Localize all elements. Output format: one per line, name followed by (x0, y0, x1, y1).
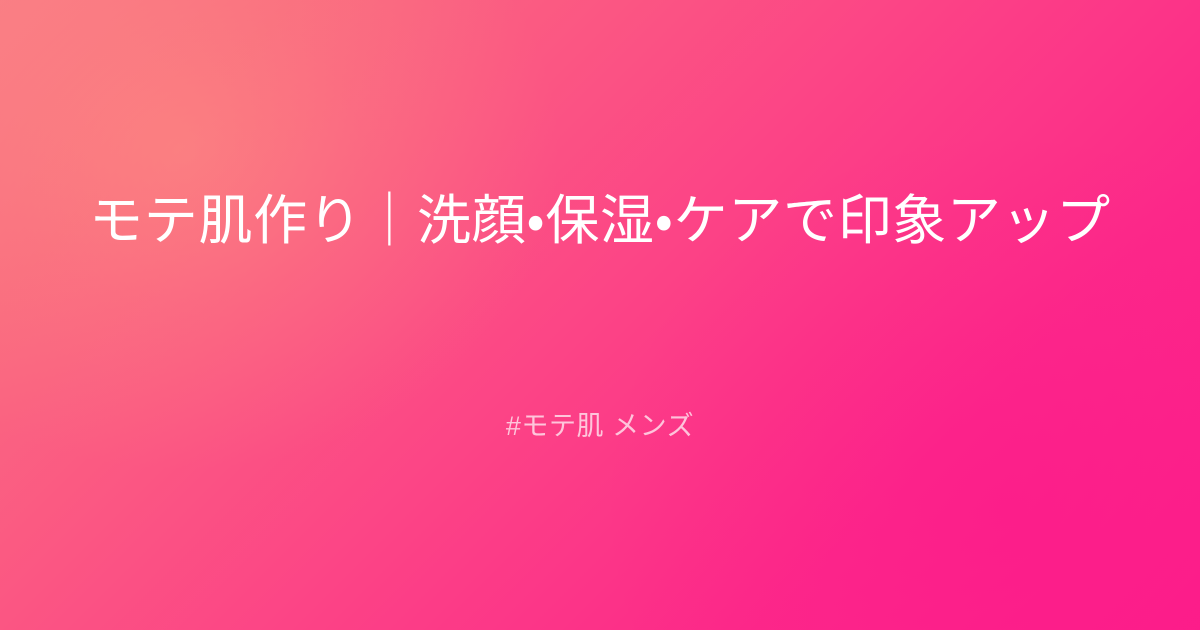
og-image-card: モテ肌作り｜洗顔・保湿・ケアで印象アップ #モテ肌 メンズ (0, 0, 1200, 630)
hashtag-subtitle: #モテ肌 メンズ (506, 409, 694, 444)
page-title: モテ肌作り｜洗顔・保湿・ケアで印象アップ (29, 186, 1171, 257)
title-subtitle-spacer (600, 257, 601, 409)
card-content: モテ肌作り｜洗顔・保湿・ケアで印象アップ #モテ肌 メンズ (0, 186, 1200, 444)
